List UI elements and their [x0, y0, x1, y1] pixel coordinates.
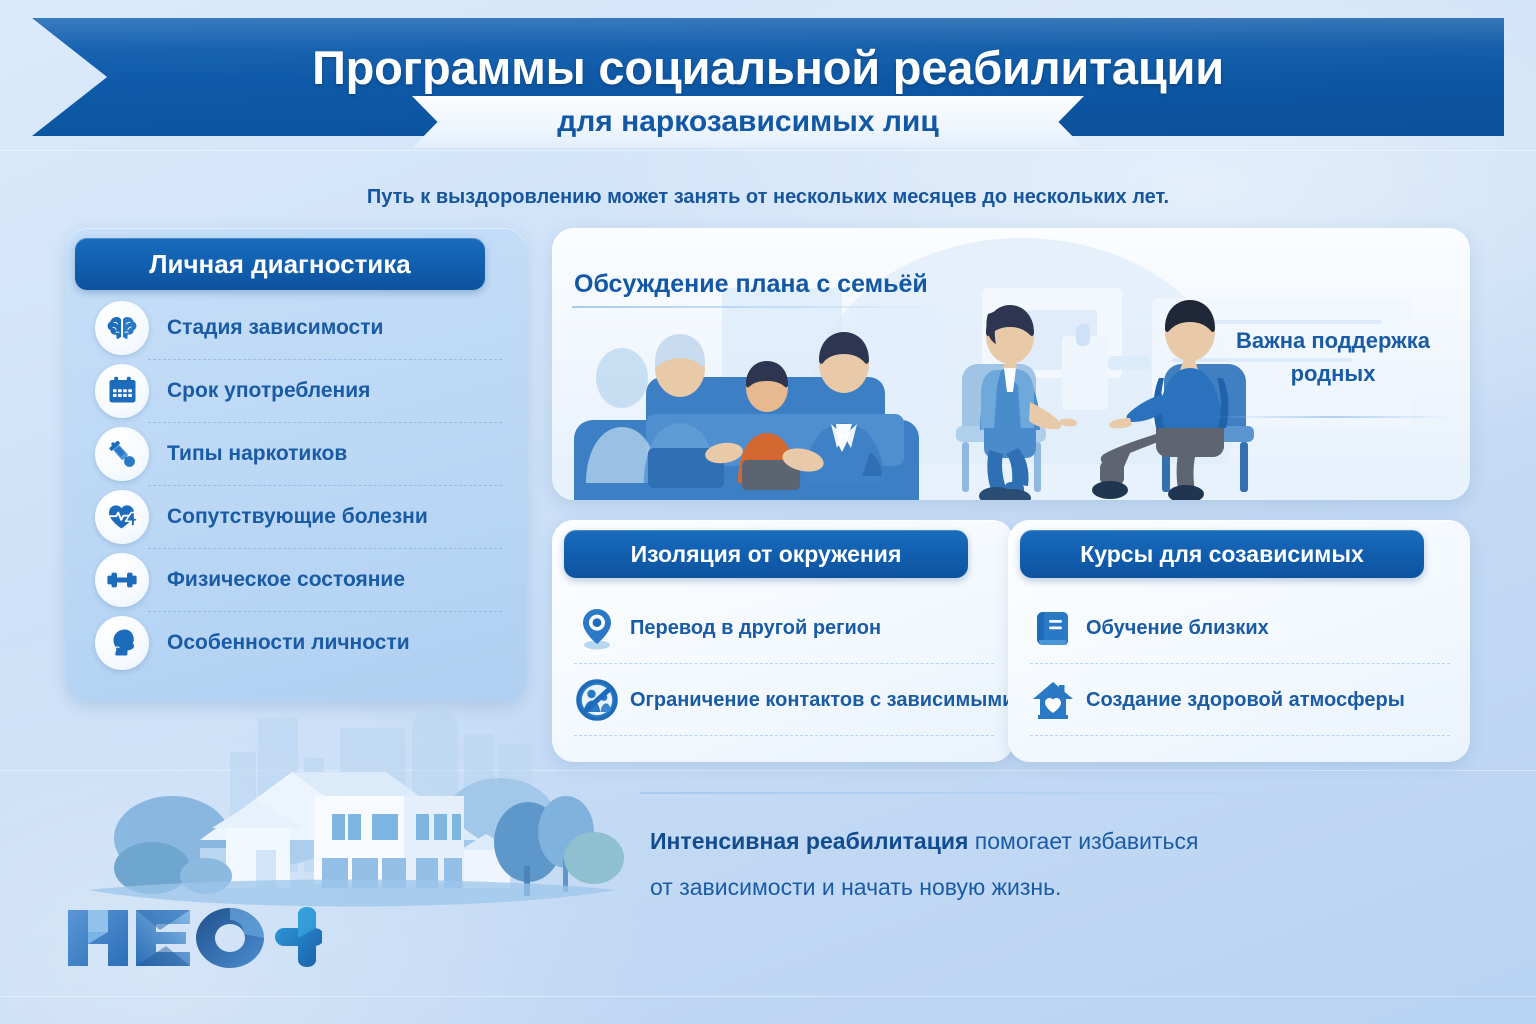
family-support-caption: Важна поддержка родных	[1212, 324, 1454, 390]
location-pin-icon	[574, 605, 620, 651]
list-item[interactable]: Особенности личности	[66, 611, 526, 674]
head-profile-icon	[95, 616, 149, 670]
family-discussion-title: Обсуждение плана с семьёй	[574, 270, 928, 299]
footer-statement: Интенсивная реабилитация помогает избави…	[650, 818, 1390, 910]
brain-icon	[95, 301, 149, 355]
codependent-title: Курсы для созависимых	[1020, 530, 1424, 578]
isolation-title: Изоляция от окружения	[564, 530, 968, 578]
footer-line2: от зависимости и начать новую жизнь.	[650, 864, 1390, 910]
list-item-label: Обучение близких	[1086, 617, 1269, 640]
list-item[interactable]: Перевод в другой регион	[552, 592, 1014, 664]
page-subtitle: для наркозависимых лиц	[412, 96, 1084, 148]
list-item[interactable]: Срок употребления	[66, 359, 526, 422]
brand-logo: НЕО+	[62, 900, 322, 976]
house-scene	[60, 700, 630, 920]
footer-rest: помогает избавиться	[968, 828, 1198, 854]
list-item-label: Стадия зависимости	[167, 316, 383, 340]
list-item[interactable]: Стадия зависимости	[66, 296, 526, 359]
list-item-label: Ограничение контактов с зависимыми	[630, 689, 1014, 712]
list-item-label: Типы наркотиков	[167, 442, 347, 466]
title-underline	[572, 306, 954, 308]
diagnostics-list: Стадия зависимости	[66, 296, 526, 674]
infographic-stage: Программы социальной реабилитации для на…	[0, 0, 1536, 1024]
list-item[interactable]: Создание здоровой атмосферы	[1008, 664, 1470, 736]
caption-underline	[1212, 416, 1452, 418]
footer-emphasis: Интенсивная реабилитация	[650, 828, 968, 854]
list-item-label: Сопутствующие болезни	[167, 505, 428, 529]
house-heart-icon	[1030, 677, 1076, 723]
list-item[interactable]: Типы наркотиков	[66, 422, 526, 485]
list-item[interactable]: Физическое состояние	[66, 548, 526, 611]
footer-divider	[640, 792, 1340, 794]
diagnostics-title: Личная диагностика	[75, 238, 485, 290]
list-item[interactable]: Обучение близких	[1008, 592, 1470, 664]
list-item[interactable]: Сопутствующие болезни	[66, 485, 526, 548]
page-title: Программы социальной реабилитации	[0, 40, 1536, 95]
book-icon	[1030, 605, 1076, 651]
lead-paragraph: Путь к выздоровлению может занять от нес…	[0, 186, 1536, 209]
list-item-label: Особенности личности	[167, 631, 410, 655]
calendar-icon	[95, 364, 149, 418]
decor-stripe	[0, 150, 1536, 151]
syringe-icon	[95, 427, 149, 481]
list-item-label: Срок употребления	[167, 379, 370, 403]
list-item-label: Перевод в другой регион	[630, 617, 881, 640]
dumbbell-icon	[95, 553, 149, 607]
list-item-label: Создание здоровой атмосферы	[1086, 689, 1405, 712]
codependent-list: Обучение близких Создание здоровой атмос…	[1008, 592, 1470, 736]
heart-plus-icon	[95, 490, 149, 544]
suburban-house-illustration	[60, 700, 630, 920]
decor-stripe	[0, 996, 1536, 997]
list-item-label: Физическое состояние	[167, 568, 405, 592]
